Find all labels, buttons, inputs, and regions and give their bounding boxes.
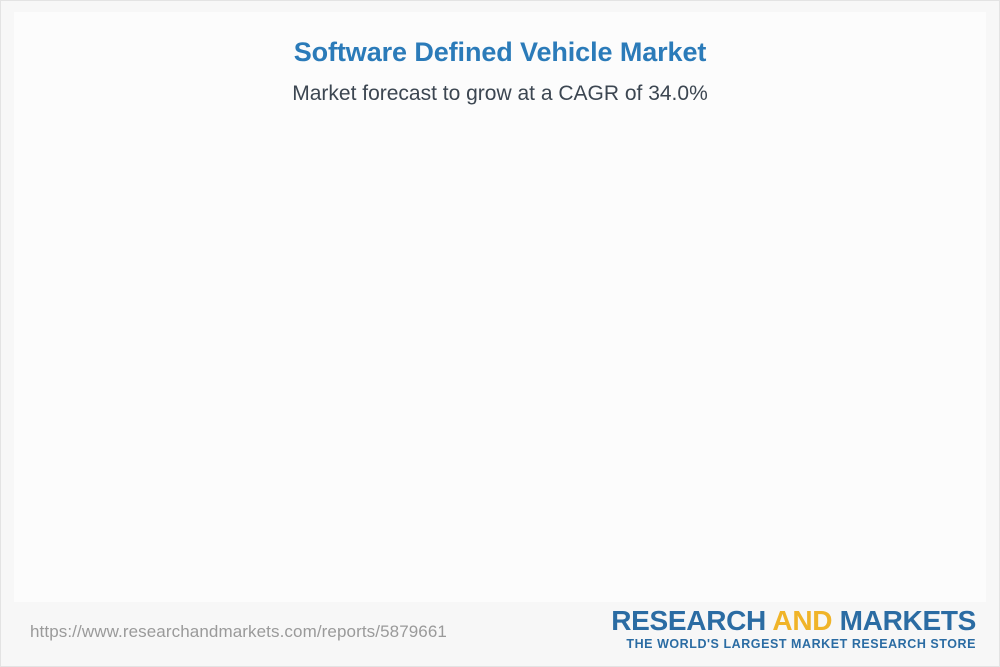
brand-name-research: RESEARCH (611, 605, 772, 636)
brand-logo[interactable]: RESEARCH AND MARKETS THE WORLD'S LARGEST… (611, 606, 976, 652)
chart-footer: https://www.researchandmarkets.com/repor… (0, 600, 1000, 667)
brand-tagline: THE WORLD'S LARGEST MARKET RESEARCH STOR… (611, 638, 976, 652)
brand-name-and: AND (772, 605, 832, 636)
chart-title: Software Defined Vehicle Market (0, 36, 1000, 68)
chart-canvas: Software Defined Vehicle Market Market f… (0, 0, 1000, 667)
brand-name-markets: MARKETS (832, 605, 976, 636)
chart-header: Software Defined Vehicle Market Market f… (0, 36, 1000, 107)
chart-subtitle: Market forecast to grow at a CAGR of 34.… (0, 81, 1000, 106)
brand-name: RESEARCH AND MARKETS (611, 606, 976, 635)
source-url-link[interactable]: https://www.researchandmarkets.com/repor… (30, 622, 447, 642)
